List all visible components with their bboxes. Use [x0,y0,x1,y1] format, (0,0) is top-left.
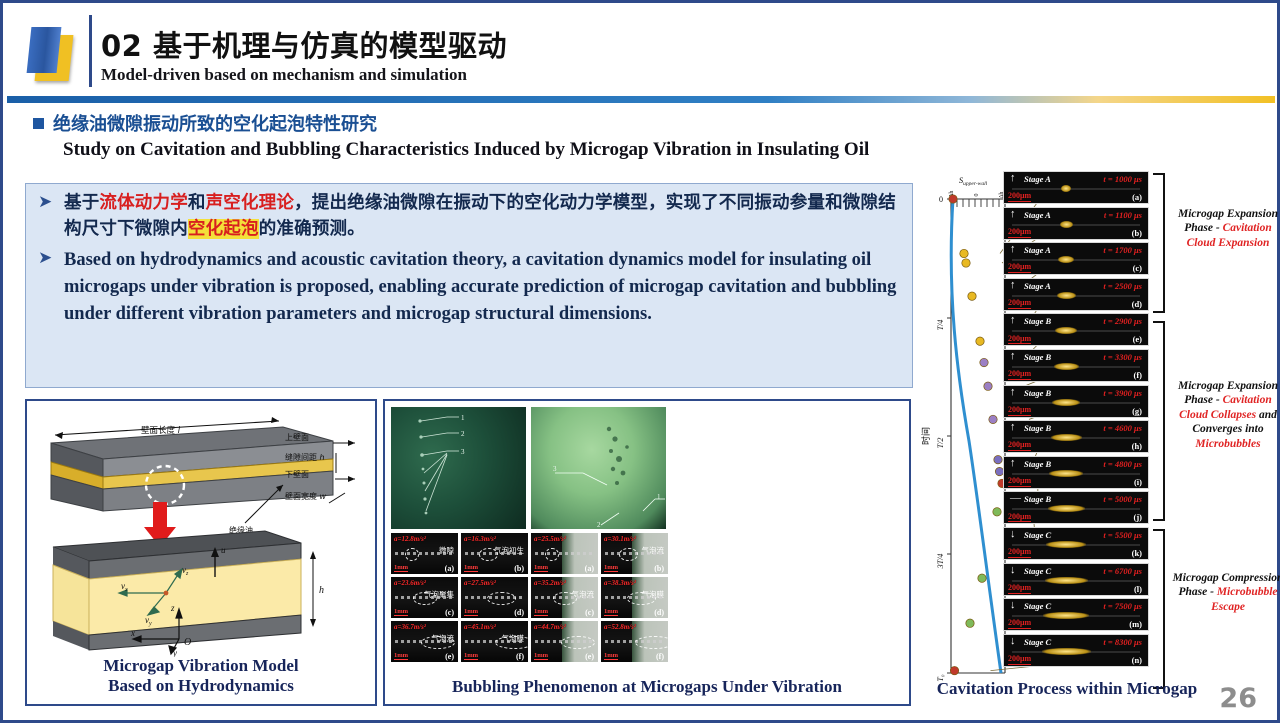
photo-frame: a=36.7m/s²1mm(e)气泡流 [391,621,458,662]
frame-index: (l) [1134,584,1142,594]
cavitation-bubble [1045,577,1088,584]
slide: 02 基于机理与仿真的模型驱动 Model-driven based on me… [0,0,1280,723]
photo-index: (b) [654,564,664,573]
time-label: t = 2900 μs [1103,316,1142,326]
direction-arrow-icon: ↓ [1010,600,1016,611]
panel1-caption-line2: Based on Hydrodynamics [108,676,294,695]
panel-microgap-model: 壁面长度 l 上壁面 缝隙间距 h 下壁面 壁面宽度 w 绝缘油 [25,399,377,706]
scale-label: 200μm [1008,441,1031,451]
panel2-caption: Bubbling Phenomenon at Microgaps Under V… [385,677,909,697]
photo-index: (c) [585,608,594,617]
panel3-caption: Cavitation Process within Microgap [917,679,1217,699]
photo-green-right-annotations: 312 [531,407,666,529]
acceleration-label: a=36.7m/s² [394,623,426,631]
photo-index: (f) [656,652,664,661]
photo-index: (f) [516,652,524,661]
stage-label: Stage A [1024,174,1051,184]
cavitation-frame: ↑Stage At = 1000 μs200μm(a) [1003,171,1149,204]
cavitation-frame: —Stage Bt = 5000 μs200μm(j) [1003,491,1149,524]
direction-arrow-icon: ↓ [1010,636,1016,647]
acceleration-label: a=30.1m/s² [604,535,636,543]
bubble-outline [413,592,437,605]
frame-index: (a) [1132,192,1142,202]
frame-index: (j) [1134,512,1143,522]
acceleration-label: a=38.3m/s² [604,579,636,587]
label-lower-wall: 下壁面 [285,469,309,479]
phase2-line2a: Phase - [1184,394,1222,406]
bubble-outline [487,592,516,605]
cavitation-frame: ↑Stage Bt = 3900 μs200μm(g) [1003,385,1149,418]
svg-text:3: 3 [553,465,557,473]
chart-point-a [960,249,968,257]
time-label: t = 5000 μs [1103,494,1142,504]
scale-label: 200μm [1008,513,1031,523]
phase3-line1: Microgap Compression [1173,572,1280,584]
direction-arrow-icon: ↑ [1010,422,1016,433]
time-label: t = 3300 μs [1103,352,1142,362]
logo-icon [27,25,79,83]
direction-arrow-icon: ↑ [1010,173,1016,184]
chart-point-m [966,619,974,627]
cavitation-bubble [1058,256,1074,263]
microgap-line [1012,295,1140,297]
stage-label: Stage A [1024,210,1051,220]
acceleration-label: a=25.5m/s² [534,535,566,543]
time-label: t = 1700 μs [1103,245,1142,255]
cavitation-bubble [1049,470,1083,477]
phase2-line5: Converges into [1192,423,1263,435]
scale-bar-label: 1mm [464,652,478,660]
bubble-outline [635,636,668,649]
scale-bar-label: 1mm [604,564,618,572]
cn-seg-1: 基于 [64,193,99,213]
chart-point-start [949,195,957,203]
cavitation-frame: ↑Stage Bt = 4600 μs200μm(h) [1003,420,1149,453]
frame-strip: ↑Stage At = 1000 μs200μm(a)↑Stage At = 1… [1003,171,1149,669]
time-label: t = 1000 μs [1103,174,1142,184]
cavitation-bubble [1042,648,1091,655]
phase3-line2a: Phase - [1178,586,1216,598]
stage-label: Stage B [1024,388,1051,398]
microgap-dashed-line [535,552,594,555]
time-label: t = 2500 μs [1103,281,1142,291]
phase2-line4: and [1256,409,1277,421]
svg-text:1: 1 [461,414,465,422]
callout-bullet-cn: ➤ 基于流体动力学和声空化理论，提出绝缘油微隙在振动下的空化动力学模型，实现了不… [34,191,902,243]
photo-frame: a=16.3m/s²1mm(b)气泡初生 [461,533,528,574]
arrow-bullet-icon-2: ➤ [34,247,64,270]
scale-label: 200μm [1008,370,1031,380]
bubble-outline [561,636,595,649]
bubble-outline [479,548,498,561]
cn-highlight-1: 流体动力学 [99,193,188,213]
stage-label: Stage C [1024,530,1051,540]
cavitation-frame: ↑Stage Bt = 2900 μs200μm(e) [1003,313,1149,346]
photo-frame: a=12.8m/s²1mm(a)微隙 [391,533,458,574]
photo-index: (d) [654,608,664,617]
scale-label: 200μm [1008,335,1031,345]
photo-frame: a=35.2m/s²1mm(c)气泡流 [531,577,598,618]
cn-seg-2: 和 [188,193,206,213]
bullet-square-icon [33,118,44,129]
cn-highlight-3: 空化起泡 [188,219,259,239]
chart-ytick-t2: T/2 [936,438,945,449]
cavitation-bubble [1060,221,1073,228]
frame-index: (g) [1132,406,1142,416]
section-title-cn: 绝缘油微隙振动所致的空化起泡特性研究 [53,110,377,136]
cavitation-bubble [1054,363,1079,370]
chart-ytick-t4: T/4 [936,320,945,331]
direction-arrow-icon: ↑ [1010,351,1016,362]
label-wall-width: 壁面宽度 w [285,491,327,501]
scale-label: 200μm [1008,228,1031,238]
section-title-en: Study on Cavitation and Bubbling Charact… [63,139,869,161]
svg-text:3: 3 [461,448,465,456]
panel-cavitation-process: 0 T/4 T/2 3T/4 T₀ Supper-wall -Δh 0 Δh 时… [917,163,1261,706]
photo-green-left: 123 [391,407,526,529]
cavitation-frame: ↑Stage Bt = 3300 μs200μm(f) [1003,349,1149,382]
frame-index: (f) [1134,370,1143,380]
callout-bullet-en: ➤ Based on hydrodynamics and acoustic ca… [34,247,902,328]
cavitation-frame: ↓Stage Ct = 5500 μs200μm(k) [1003,527,1149,560]
time-label: t = 6700 μs [1103,566,1142,576]
scale-bar-label: 1mm [394,652,408,660]
scale-bar-label: 1mm [464,564,478,572]
photo-green-left-annotations: 123 [391,407,526,529]
scale-label: 200μm [1008,192,1031,202]
scale-bar-label: 1mm [394,608,408,616]
scale-bar-label: 1mm [394,564,408,572]
cavitation-bubble [1055,327,1077,334]
photo-frame: a=45.1m/s²1mm(f)气泡膜 [461,621,528,662]
photo-index: (e) [445,652,454,661]
bubble-outline [545,548,559,561]
svg-text:1: 1 [657,493,661,501]
cavitation-bubble [1052,399,1080,406]
scale-label: 200μm [1008,548,1031,558]
scale-bar-label: 1mm [464,608,478,616]
photo-index: (d) [514,608,524,617]
brace-phase-2 [1153,321,1165,521]
phase3-line3: Escape [1211,601,1245,613]
frame-index: (h) [1132,441,1142,451]
header-gradient-bar [7,96,1275,103]
frame-index: (m) [1129,619,1142,629]
direction-arrow-icon: ↑ [1010,387,1016,398]
acceleration-label: a=16.3m/s² [464,535,496,543]
scale-label: 200μm [1008,299,1031,309]
panel1-caption-line1: Microgap Vibration Model [103,656,298,675]
page-subtitle: Model-driven based on mechanism and simu… [101,65,467,85]
label-axis-origin: O [184,637,191,648]
label-u: u [221,545,226,555]
photo-index: (a) [445,564,454,573]
cavitation-frame: ↑Stage Bt = 4800 μs200μm(i) [1003,456,1149,489]
scale-bar-label: 1mm [604,652,618,660]
phase2-line1: Microgap Expansion [1178,380,1278,392]
phase-caption-1: Microgap Expansion Phase - Cavitation Cl… [1169,207,1280,250]
time-label: t = 7500 μs [1103,601,1142,611]
microgap-line [1012,224,1140,226]
frame-index: (b) [1132,228,1142,238]
chart-ytick-3t4: 3T/4 [936,554,945,570]
label-wall-length: 壁面长度 l [141,425,181,436]
scale-bar-label: 1mm [534,564,548,572]
direction-arrow-icon: ↑ [1010,280,1016,291]
frame-index: (d) [1132,299,1142,309]
phase-caption-2: Microgap Expansion Phase - Cavitation Cl… [1169,379,1280,451]
bubble-outline [405,548,419,561]
direction-arrow-icon: ↑ [1010,244,1016,255]
photo-green-right: 312 [531,407,666,529]
acceleration-label: a=27.5m/s² [464,579,496,587]
cavitation-frame: ↓Stage Ct = 8300 μs200μm(n) [1003,634,1149,667]
cavitation-bubble [1057,292,1076,299]
photo-index: (e) [585,652,594,661]
zoomed-microgap-box [53,531,301,650]
header-divider [89,15,92,87]
page-number: 26 [1219,683,1257,714]
phase1-line3: Cloud Expansion [1187,237,1270,249]
cn-seg-4: 的准确预测。 [259,219,365,239]
time-label: t = 4800 μs [1103,459,1142,469]
stage-label: Stage C [1024,566,1051,576]
bubble-outline [421,636,455,649]
cn-highlight-2: 声空化理论 [206,193,295,213]
brace-phase-3 [1153,529,1165,689]
bubble-outline [495,636,528,649]
stage-label: Stage B [1024,459,1051,469]
label-gap-distance: 缝隙间距 h [285,452,325,462]
photo-frame: a=25.5m/s²1mm(a) [531,533,598,574]
acceleration-label: a=52.8m/s² [604,623,636,631]
cavitation-frame: ↓Stage Ct = 6700 μs200μm(l) [1003,563,1149,596]
scale-label: 200μm [1008,477,1031,487]
microgap-dashed-line [395,552,454,555]
label-axis-z: z [170,603,175,613]
time-label: t = 4600 μs [1103,423,1142,433]
arrow-bullet-icon: ➤ [34,191,64,214]
phase2-line2b: Cavitation [1223,394,1272,406]
brace-phase-1 [1153,173,1165,313]
frame-index: (k) [1132,548,1142,558]
cavitation-bubble [1051,434,1082,441]
phase2-line3: Cloud Collapses [1179,409,1256,421]
svg-text:2: 2 [597,521,601,529]
bubble-outline [619,548,638,561]
cavitation-frame: ↑Stage At = 1700 μs200μm(c) [1003,242,1149,275]
microgap-model-figure: 壁面长度 l 上壁面 缝隙间距 h 下壁面 壁面宽度 w 绝缘油 [33,407,369,657]
slide-header: 02 基于机理与仿真的模型驱动 Model-driven based on me… [3,7,1277,91]
microgap-line [1012,188,1140,190]
phase2-line6: Microbubbles [1195,438,1260,450]
frame-index: (e) [1133,334,1142,344]
cavitation-frame: ↑Stage At = 1100 μs200μm(b) [1003,207,1149,240]
stage-label: Stage B [1024,316,1051,326]
cavitation-bubble [1048,505,1085,512]
callout-text-en: Based on hydrodynamics and acoustic cavi… [64,247,902,328]
frame-index: (c) [1133,263,1142,273]
stage-label: Stage B [1024,352,1051,362]
frame-index: (n) [1132,655,1142,665]
acceleration-label: a=23.6m/s² [394,579,426,587]
stage-label: Stage B [1024,423,1051,433]
photo-frame: a=44.7m/s²1mm(e) [531,621,598,662]
time-label: t = 1100 μs [1104,210,1142,220]
label-axis-x: x [130,628,135,638]
page-title: 02 基于机理与仿真的模型驱动 [101,23,507,65]
photo-index: (b) [514,564,524,573]
summary-callout: ➤ 基于流体动力学和声空化理论，提出绝缘油微隙在振动下的空化动力学模型，实现了不… [25,183,913,388]
time-label: t = 3900 μs [1103,388,1142,398]
bubble-outline [627,592,656,605]
scale-label: 200μm [1008,263,1031,273]
stage-label: Stage B [1024,494,1051,504]
direction-arrow-icon: ↓ [1010,565,1016,576]
cavitation-bubble [1046,541,1086,548]
photo-frame: a=30.1m/s²1mm(b)气泡流 [601,533,668,574]
direction-arrow-icon: ↑ [1010,458,1016,469]
photo-frame: a=38.3m/s²1mm(d)气泡膜 [601,577,668,618]
acceleration-label: a=44.7m/s² [534,623,566,631]
scale-bar-label: 1mm [534,652,548,660]
cavitation-bubble [1043,612,1089,619]
direction-arrow-icon: — [1010,493,1021,504]
photo-frame: a=27.5m/s²1mm(d) [461,577,528,618]
stage-label: Stage C [1024,637,1051,647]
scale-label: 200μm [1008,406,1031,416]
phase1-line2b: Cavitation [1223,222,1272,234]
scale-bar-label: 1mm [604,608,618,616]
photo-frame: a=23.6m/s²1mm(c)气泡聚集 [391,577,458,618]
chart-point-b [962,259,970,267]
chart-ytick-0: 0 [939,195,943,204]
direction-arrow-icon: ↓ [1010,529,1016,540]
photo-index: (c) [445,608,454,617]
stage-label: Stage A [1024,281,1051,291]
photo-frame: a=52.8m/s²1mm(f) [601,621,668,662]
bubble-outline [553,592,577,605]
microgap-line [1012,259,1140,261]
callout-text-cn: 基于流体动力学和声空化理论，提出绝缘油微隙在振动下的空化动力学模型，实现了不同振… [64,191,902,243]
cavitation-bubble [1061,185,1071,192]
phase-caption-3: Microgap Compression Phase - Microbubble… [1169,571,1280,614]
scale-label: 200μm [1008,584,1031,594]
frame-index: (i) [1134,477,1142,487]
cavitation-frame: ↑Stage At = 2500 μs200μm(d) [1003,278,1149,311]
acceleration-label: a=35.2m/s² [534,579,566,587]
time-label: t = 5500 μs [1103,530,1142,540]
scale-label: 200μm [1008,619,1031,629]
cavitation-frame: ↓Stage Ct = 7500 μs200μm(m) [1003,598,1149,631]
acceleration-label: a=45.1m/s² [464,623,496,631]
scale-bar-label: 1mm [534,608,548,616]
logo-blue-shape [27,27,62,73]
chart-point-n [950,666,958,674]
phase1-line2a: Phase - [1184,222,1222,234]
photo-index: (a) [585,564,594,573]
stage-label: Stage C [1024,601,1051,611]
time-label: t = 8300 μs [1103,637,1142,647]
label-upper-wall: 上壁面 [285,432,309,442]
acceleration-label: a=12.8m/s² [394,535,426,543]
panel-bubbling-photos: 123 [383,399,911,706]
direction-arrow-icon: ↑ [1010,209,1016,220]
svg-text:2: 2 [461,430,465,438]
stage-label: Stage A [1024,245,1051,255]
direction-arrow-icon: ↑ [1010,315,1016,326]
chart-point-c [968,292,976,300]
label-h: h [319,585,324,596]
phase3-line2b: Microbubble [1217,586,1278,598]
chart-y-title: 时间 [920,427,932,445]
scale-label: 200μm [1008,655,1031,665]
phase1-line1: Microgap Expansion [1178,208,1278,220]
panel1-caption: Microgap Vibration Model Based on Hydrod… [27,656,375,696]
